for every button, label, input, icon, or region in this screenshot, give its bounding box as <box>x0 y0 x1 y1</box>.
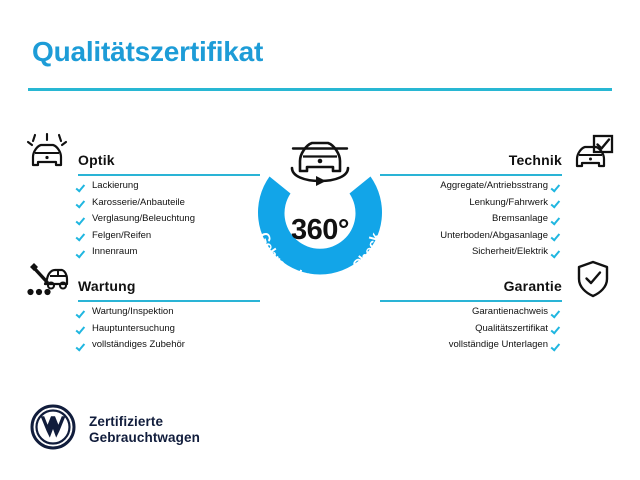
check-icon <box>553 230 562 241</box>
car-service-wrench-icon <box>24 258 70 300</box>
list-item: Qualitätszertifikat <box>475 321 562 338</box>
shield-check-icon <box>570 258 616 300</box>
list-item: Lackierung <box>78 178 262 195</box>
check-icon <box>553 197 562 208</box>
list-item: Wartung/Inspektion <box>78 304 262 321</box>
list-item: Aggregate/Antriebsstrang <box>440 178 562 195</box>
volkswagen-logo <box>30 404 76 455</box>
page-title: Qualitätszertifikat <box>32 36 263 68</box>
check-icon <box>553 323 562 334</box>
technik-check-list: Aggregate/Antriebsstrang Lenkung/Fahrwer… <box>378 178 618 261</box>
list-item: Garantienachweis <box>472 304 562 321</box>
section-wartung-title: Wartung <box>78 278 136 294</box>
list-item: Verglasung/Beleuchtung <box>78 211 262 228</box>
list-item-label: Lackierung <box>92 178 138 195</box>
list-item-label: Bremsanlage <box>492 211 548 228</box>
list-item: Lenkung/Fahrwerk <box>469 195 562 212</box>
check-icon <box>78 247 87 258</box>
list-item-label: Wartung/Inspektion <box>92 304 174 321</box>
section-optik-underline <box>78 174 260 176</box>
brand-claim: Zertifizierte Gebrauchtwagen <box>89 414 200 446</box>
list-item-label: Qualitätszertifikat <box>475 321 548 338</box>
list-item: Karosserie/Anbauteile <box>78 195 262 212</box>
section-garantie: Garantie Garantienachweis Qualitätszerti… <box>378 258 618 354</box>
brand-claim-line-2: Gebrauchtwagen <box>89 430 200 446</box>
car-wash-icon <box>24 132 70 174</box>
section-optik-header: Optik <box>22 132 262 178</box>
section-optik: Optik Lackierung Karosserie/Anbauteile V… <box>22 132 262 261</box>
footer-brand: Zertifizierte Gebrauchtwagen <box>30 404 200 455</box>
list-item-label: Lenkung/Fahrwerk <box>469 195 548 212</box>
list-item-label: Garantienachweis <box>472 304 548 321</box>
section-wartung: Wartung Wartung/Inspektion Hauptuntersuc… <box>22 258 262 354</box>
list-item: Unterboden/Abgasanlage <box>440 228 562 245</box>
list-item-label: Aggregate/Antriebsstrang <box>440 178 548 195</box>
section-garantie-underline <box>380 300 562 302</box>
check-icon <box>78 214 87 225</box>
section-garantie-header: Garantie <box>378 258 618 304</box>
check-icon <box>553 247 562 258</box>
check-icon <box>78 307 87 318</box>
optik-check-list: Lackierung Karosserie/Anbauteile Verglas… <box>22 178 262 261</box>
list-item-label: vollständiges Zubehör <box>92 337 185 354</box>
check-icon <box>78 323 87 334</box>
title-divider <box>28 88 612 91</box>
list-item: vollständige Unterlagen <box>449 337 562 354</box>
list-item: Bremsanlage <box>492 211 562 228</box>
check-icon <box>553 181 562 192</box>
section-wartung-header: Wartung <box>22 258 262 304</box>
section-optik-title: Optik <box>78 152 115 168</box>
check-icon <box>78 181 87 192</box>
section-technik-header: Technik <box>378 132 618 178</box>
check-icon <box>78 340 87 351</box>
gebrauchtwagen-check-badge: Gebrauchtwagen-Check 360° <box>236 120 404 306</box>
list-item-label: Felgen/Reifen <box>92 228 151 245</box>
list-item-label: Unterboden/Abgasanlage <box>440 228 548 245</box>
section-technik-title: Technik <box>509 152 562 168</box>
certificate-page: Qualitätszertifikat Optik <box>0 0 640 480</box>
check-icon <box>553 214 562 225</box>
list-item: Felgen/Reifen <box>78 228 262 245</box>
section-technik: Technik Aggregate/Antriebsstrang Lenkung… <box>378 132 618 261</box>
section-wartung-underline <box>78 300 260 302</box>
list-item-label: vollständige Unterlagen <box>449 337 548 354</box>
check-icon <box>553 307 562 318</box>
check-icon <box>553 340 562 351</box>
list-item-label: Hauptuntersuchung <box>92 321 175 338</box>
brand-claim-line-1: Zertifizierte <box>89 414 200 430</box>
list-item: Hauptuntersuchung <box>78 321 262 338</box>
car-checkbox-icon <box>570 132 616 174</box>
badge-center-label: 360° <box>236 214 404 247</box>
garantie-check-list: Garantienachweis Qualitätszertifikat vol… <box>378 304 618 354</box>
section-technik-underline <box>380 174 562 176</box>
list-item-label: Karosserie/Anbauteile <box>92 195 185 212</box>
section-garantie-title: Garantie <box>504 278 562 294</box>
list-item-label: Verglasung/Beleuchtung <box>92 211 195 228</box>
check-icon <box>78 230 87 241</box>
list-item: vollständiges Zubehör <box>78 337 262 354</box>
wartung-check-list: Wartung/Inspektion Hauptuntersuchung vol… <box>22 304 262 354</box>
check-icon <box>78 197 87 208</box>
